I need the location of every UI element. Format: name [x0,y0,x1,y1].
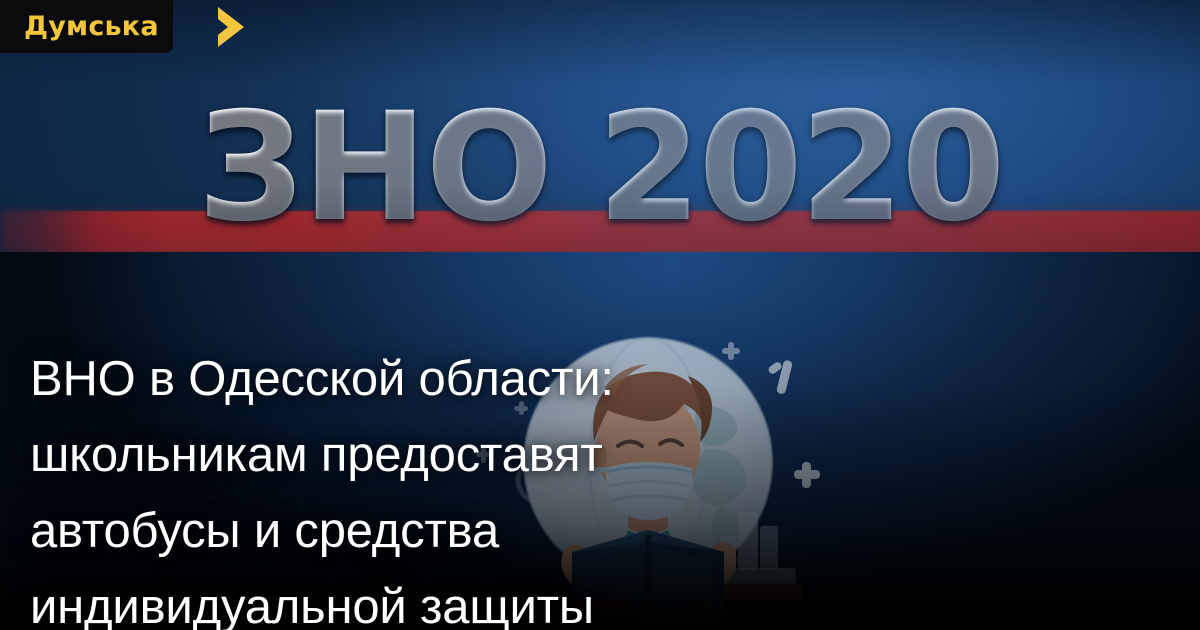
logo-text: Думська [24,13,159,40]
article-preview-card: ЗНО 2020 [0,0,1200,630]
site-logo[interactable]: Думська [0,0,173,53]
chevron-right-icon [214,5,254,49]
zno-wordmark: ЗНО 2020 [0,78,1200,258]
page-title: ВНО в Одесской области: школьникам предо… [30,341,790,630]
headline-line: автобусы и средства [30,493,790,569]
headline-line: школьникам предоставят [30,417,790,493]
wordmark-year-text: 2020 [597,93,1002,243]
headline-line: ВНО в Одесской области: [30,341,790,417]
logo-plate[interactable]: Думська [0,0,173,53]
headline-line: индивидуальной защиты [30,569,790,630]
plus-symbol-icon [794,462,820,488]
wordmark-main-text: ЗНО [197,93,551,243]
article-body-area: ВНО в Одесской области: школьникам предо… [0,252,1200,630]
